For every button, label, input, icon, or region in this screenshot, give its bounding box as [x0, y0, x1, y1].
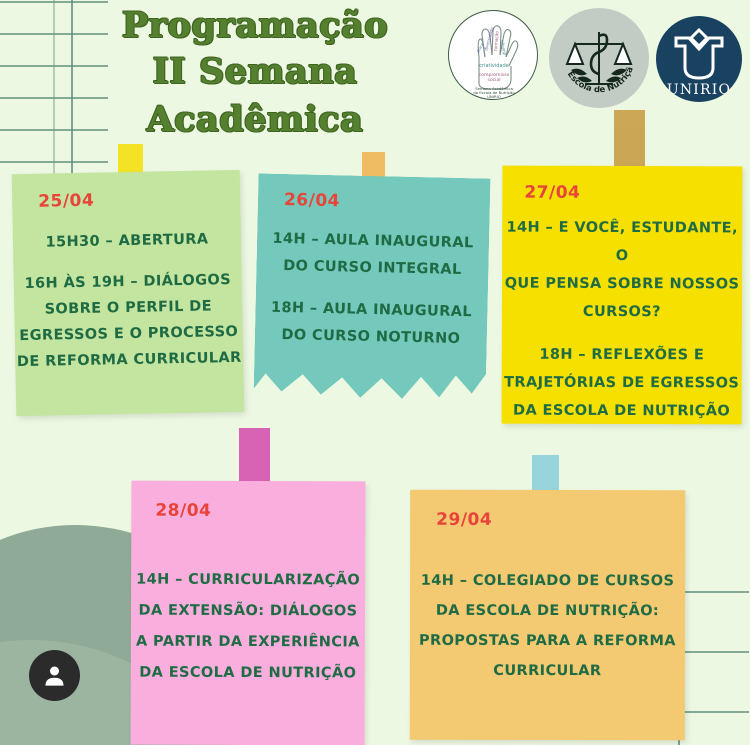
unirio-logo: UNIRIO: [656, 16, 742, 102]
card-date-label: 29/04: [436, 510, 492, 530]
poster-header: Programação II Semana Acadêmica étic: [0, 0, 750, 118]
user-avatar-icon[interactable]: [29, 650, 80, 701]
card-line: 14H – COLEGIADO DE CURSOS DA ESCOLA DE N…: [410, 566, 685, 686]
logo-group: ética diversidade formação diálogo criat…: [444, 8, 744, 108]
svg-text:formação: formação: [493, 31, 499, 51]
title-line-1: Programação: [60, 4, 450, 48]
schedule-card-27-04[interactable]: 27/04 14H – E VOCÊ, ESTUDANTE, O QUE PEN…: [502, 166, 743, 425]
card-body: 15H30 – ABERTURA 16H ÀS 19H – DIÁLOGOS S…: [13, 226, 244, 376]
card-line: 14H – CURRICULARIZAÇÃO DA EXTENSÃO: DIÁL…: [131, 565, 365, 690]
svg-text:UNIRIO: UNIRIO: [667, 82, 731, 98]
schedule-card-29-04[interactable]: 29/04 14H – COLEGIADO DE CURSOS DA ESCOL…: [410, 490, 685, 740]
escola-de-nutricao-logo: Escola de Nutrição da Unirio: [549, 8, 649, 108]
svg-text:social: social: [487, 77, 500, 83]
card-date-label: 25/04: [38, 191, 94, 212]
semana-academica-logo: ética diversidade formação diálogo criat…: [448, 10, 538, 100]
page-title: Programação II Semana Acadêmica: [60, 4, 450, 144]
card-line: 14H – E VOCÊ, ESTUDANTE, O QUE PENSA SOB…: [502, 214, 742, 327]
card-date-label: 28/04: [155, 501, 211, 521]
card-body: 14H – E VOCÊ, ESTUDANTE, O QUE PENSA SOB…: [502, 214, 743, 426]
card-line: 15H30 – ABERTURA: [13, 226, 241, 256]
poster-canvas: Programação II Semana Acadêmica étic: [0, 0, 750, 745]
title-line-2: II Semana Acadêmica: [60, 48, 450, 144]
card-line: 18H – REFLEXÕES E TRAJETÓRIAS DE EGRESSO…: [502, 341, 742, 426]
card-line: 18H – AULA INAUGURAL DO CURSO NOTURNO: [255, 295, 488, 354]
card-body: 14H – AULA INAUGURAL DO CURSO INTEGRAL 1…: [255, 225, 490, 353]
logo-caption-3: UNIRIO: [487, 94, 501, 99]
card-body: 14H – COLEGIADO DE CURSOS DA ESCOLA DE N…: [410, 566, 685, 686]
card-line: 16H ÀS 19H – DIÁLOGOS SOBRE O PERFIL DE …: [14, 267, 244, 375]
card-line: 14H – AULA INAUGURAL DO CURSO INTEGRAL: [256, 225, 489, 284]
schedule-card-26-04[interactable]: 26/04 14H – AULA INAUGURAL DO CURSO INTE…: [254, 173, 491, 400]
card-body: 14H – CURRICULARIZAÇÃO DA EXTENSÃO: DIÁL…: [131, 565, 365, 690]
svg-text:criatividade: criatividade: [479, 63, 508, 69]
person-icon: [41, 662, 68, 689]
schedule-card-28-04[interactable]: 28/04 14H – CURRICULARIZAÇÃO DA EXTENSÃO…: [131, 481, 366, 745]
card-date-label: 26/04: [284, 190, 340, 211]
card-date-label: 27/04: [524, 183, 580, 203]
schedule-card-25-04[interactable]: 25/04 15H30 – ABERTURA 16H ÀS 19H – DIÁL…: [12, 170, 245, 416]
